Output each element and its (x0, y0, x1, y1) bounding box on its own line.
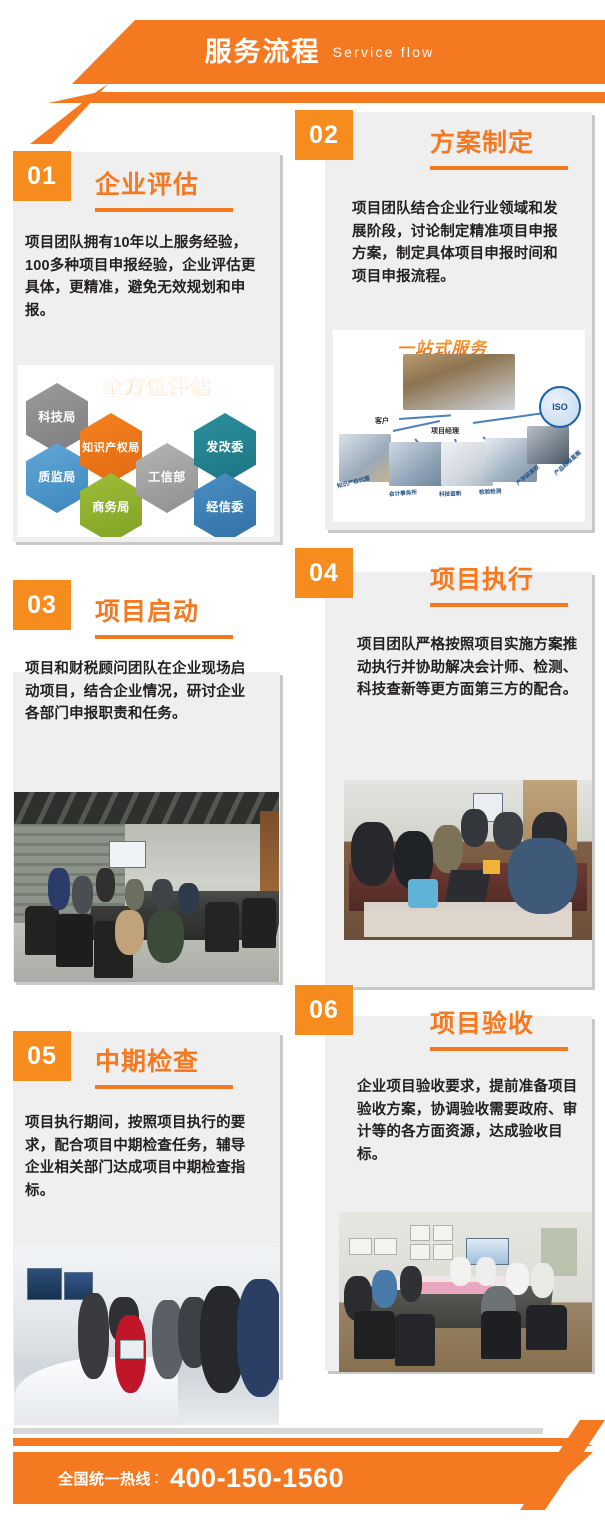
footer-top-divider (13, 1428, 543, 1434)
collage-arrow-3 (473, 411, 551, 424)
hexagon-node-jingxin: 经信委 (194, 473, 256, 537)
collage-thumb-accounting (389, 442, 445, 486)
collage-team-photo (403, 354, 515, 410)
hexagon-node-fagai: 发改委 (194, 413, 256, 483)
collage-thumb-university (527, 426, 569, 464)
step-number-badge-02: 02 (295, 110, 353, 160)
step-body-05: 项目执行期间，按照项目执行的要求，配合项目中期检查任务，辅导企业相关部门达成项目… (25, 1112, 258, 1202)
footer-hotline: 全国统一热线 ： 400-150-1560 (13, 1452, 593, 1504)
photo-acceptance-meeting (339, 1212, 592, 1372)
photo-conference-room (14, 792, 279, 982)
step-number-badge-03: 03 (13, 580, 71, 630)
step-number-badge-05: 05 (13, 1031, 71, 1081)
step-title-rule-06 (430, 1047, 568, 1051)
hexagon-node-gongxin: 工信部 (136, 443, 198, 513)
hexagon-node-zhijian: 质监局 (26, 443, 88, 513)
header-underline-stripe (0, 92, 605, 103)
step-number-badge-06: 06 (295, 985, 353, 1035)
step-title-rule-05 (95, 1085, 233, 1089)
step-title-05: 中期检查 (95, 1050, 199, 1075)
step-title-rule-01 (95, 208, 233, 212)
collage-node-customer: 客户 (375, 416, 389, 426)
step-title-03: 项目启动 (95, 600, 199, 625)
header-title-cn: 服务流程 (205, 39, 321, 66)
hexagon-node-keji: 科技局 (26, 383, 88, 453)
step-title-rule-04 (430, 603, 568, 607)
service-flow-infographic: 服务流程 Service flow 01 企业评估 项目团队拥有10年以上服务经… (0, 0, 605, 1538)
photo-meeting-laptops (344, 780, 592, 940)
step-title-06: 项目验收 (430, 1012, 534, 1037)
hexagon-diagram-title: 全方位评估 (102, 371, 212, 401)
step-number-badge-04: 04 (295, 548, 353, 598)
header-title-group: 服务流程 Service flow (0, 20, 605, 84)
hexagon-node-zscq: 知识产权局 (80, 413, 142, 483)
footer-hotline-label: 全国统一热线 (58, 1468, 151, 1489)
collage-label-search: 科技查新 (439, 489, 462, 498)
step-title-04: 项目执行 (430, 568, 534, 593)
collage-arrow-1 (399, 414, 451, 420)
header-title-en: Service flow (333, 44, 435, 60)
step-title-02: 方案制定 (430, 131, 534, 156)
photo-showroom-visit (14, 1247, 279, 1425)
footer-phone-number[interactable]: 400-150-1560 (170, 1463, 344, 1494)
step-title-01: 企业评估 (95, 173, 199, 198)
collage-node-manager: 项目经理 (431, 426, 459, 436)
collage-label-testing: 检验检测 (479, 487, 502, 496)
step-title-rule-03 (95, 635, 233, 639)
step-title-rule-02 (430, 166, 568, 170)
footer-accent-stripe (13, 1438, 593, 1446)
step-body-01: 项目团队拥有10年以上服务经验，100多种项目申报经验，企业评估更具体，更精准，… (25, 232, 258, 322)
step-body-06: 企业项目验收要求，提前准备项目验收方案，协调验收需要政府、审计等的各方面资源，达… (357, 1076, 579, 1166)
step-body-04: 项目团队严格按照项目实施方案推动执行并协助解决会计师、检测、科技查新等更方面第三… (357, 634, 579, 702)
step-number-badge-01: 01 (13, 151, 71, 201)
step-body-03: 项目和财税顾问团队在企业现场启动项目，结合企业情况，研讨企业各部门申报职责和任务… (25, 658, 258, 726)
service-collage-diagram: 一站式服务 客户 项目经理 ISO 知识产权代理 会计事务所 科技查新 检验检测… (333, 330, 585, 522)
hexagon-node-shangwu: 商务局 (80, 473, 142, 537)
hexagon-diagram: 全方位评估 科技局 质监局 知识产权局 商务局 工信部 发改委 经信委 (18, 365, 274, 537)
collage-label-accounting: 会计事务所 (389, 488, 417, 498)
footer-separator: ： (153, 1468, 167, 1488)
collage-iso-seal: ISO (539, 386, 581, 428)
step-body-02: 项目团队结合企业行业领域和发展阶段，讨论制定精准项目申报方案，制定具体项目申报时… (352, 198, 572, 288)
